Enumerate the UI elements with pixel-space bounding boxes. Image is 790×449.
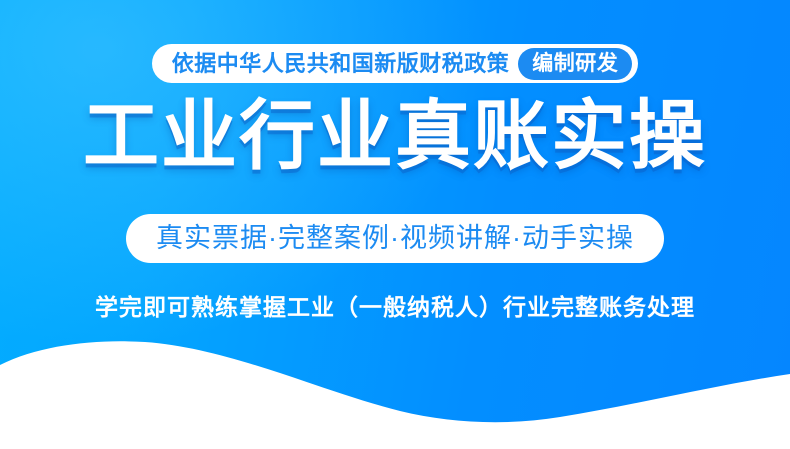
top-badge-row: 依据中华人民共和国新版财税政策 编制研发: [0, 44, 790, 83]
policy-badge-pill: 依据中华人民共和国新版财税政策 编制研发: [152, 44, 639, 83]
wave-decoration: [0, 329, 790, 449]
feature-pill: 真实票据·完整案例·视频讲解·动手实操: [126, 214, 664, 263]
tagline: 学完即可熟练掌握工业（一般纳税人）行业完整账务处理: [0, 296, 790, 319]
promo-banner: 依据中华人民共和国新版财税政策 编制研发 工业行业真账实操 真实票据·完整案例·…: [0, 0, 790, 449]
page-title: 工业行业真账实操: [0, 99, 790, 175]
feature-pill-text: 真实票据·完整案例·视频讲解·动手实操: [156, 225, 634, 252]
policy-badge-text: 依据中华人民共和国新版财税政策: [172, 53, 519, 75]
policy-badge-tag: 编制研发: [518, 48, 632, 80]
feature-pill-row: 真实票据·完整案例·视频讲解·动手实操: [0, 214, 790, 263]
